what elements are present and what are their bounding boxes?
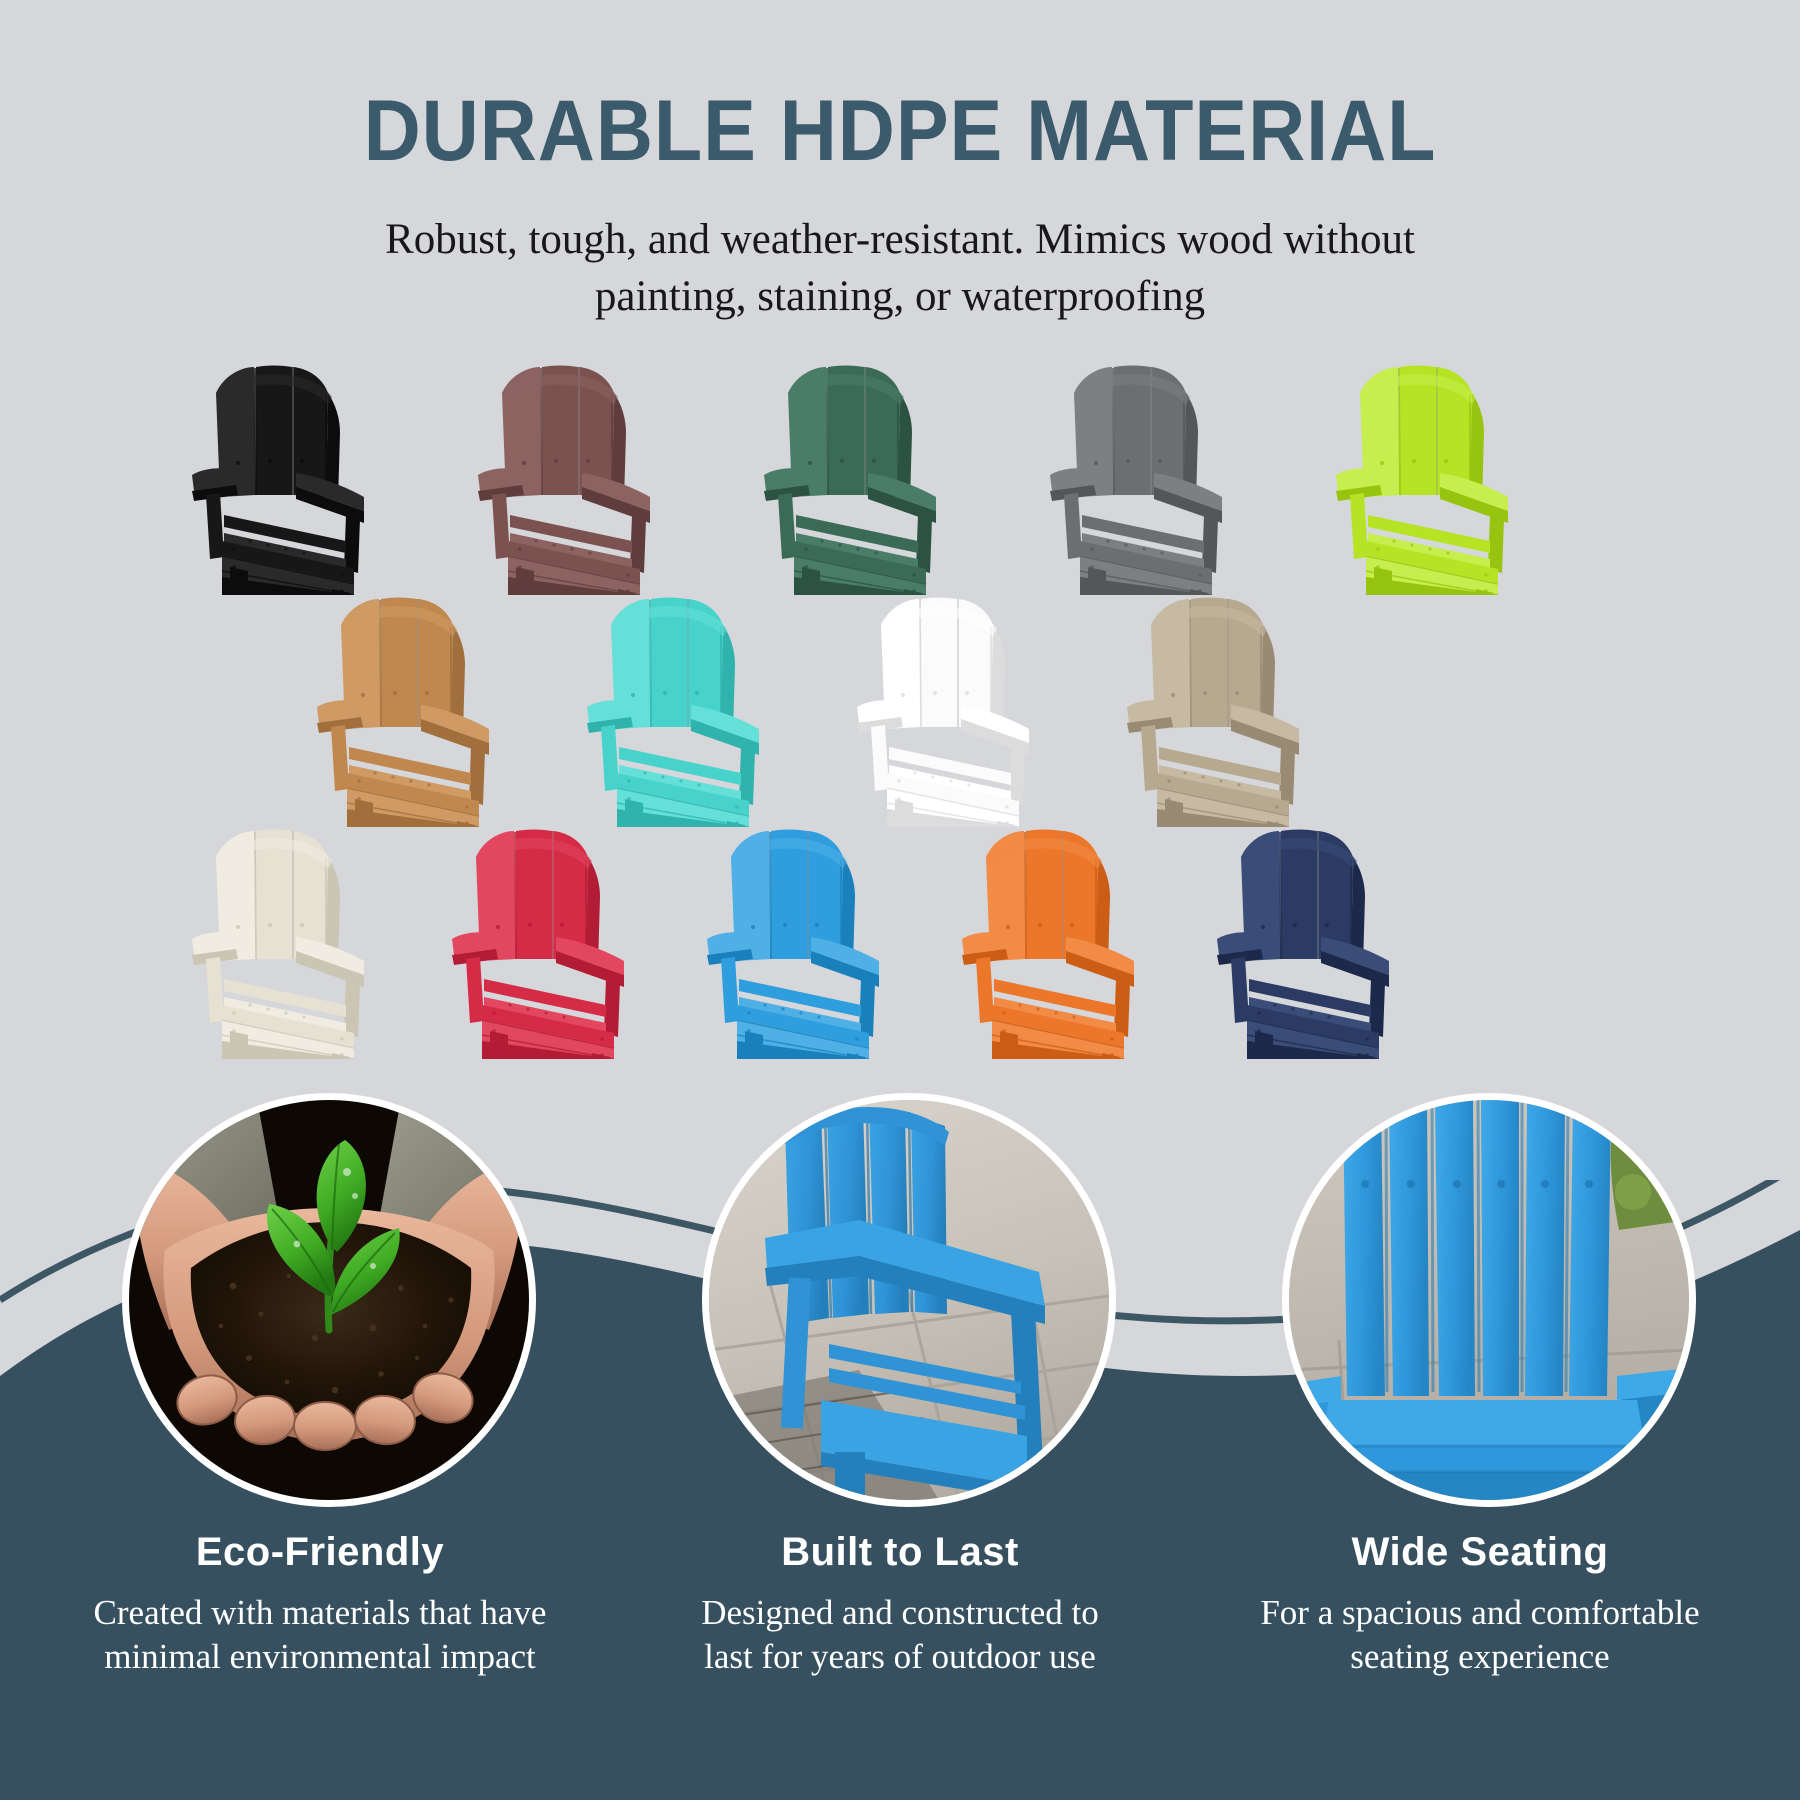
feature-built-to-last: Built to LastDesigned and constructed to… (620, 1530, 1180, 1679)
feature-body-line-2: minimal environmental impact (40, 1635, 600, 1679)
feature-body: Created with materials that haveminimal … (40, 1591, 600, 1679)
photo-circle-wide-seating (1282, 1093, 1696, 1507)
feature-heading: Eco-Friendly (40, 1530, 600, 1575)
feature-body: Designed and constructed tolast for year… (620, 1591, 1180, 1679)
photo-circle-built-to-last (702, 1093, 1116, 1507)
infographic-canvas: DURABLE HDPE MATERIAL Robust, tough, and… (0, 0, 1800, 1800)
feature-wide-seating: Wide SeatingFor a spacious and comfortab… (1200, 1530, 1760, 1679)
photo-circle-eco-friendly (122, 1093, 536, 1507)
feature-body: For a spacious and comfortableseating ex… (1200, 1591, 1760, 1679)
blue-chair-patio-icon (709, 1100, 1109, 1500)
feature-heading: Built to Last (620, 1530, 1180, 1575)
feature-body-line-1: Created with materials that have (40, 1591, 600, 1635)
feature-body-line-1: For a spacious and comfortable (1200, 1591, 1760, 1635)
blue-chair-wide-seat-icon (1289, 1100, 1689, 1500)
feature-body-line-2: last for years of outdoor use (620, 1635, 1180, 1679)
feature-heading: Wide Seating (1200, 1530, 1760, 1575)
feature-body-line-2: seating experience (1200, 1635, 1760, 1679)
feature-body-line-1: Designed and constructed to (620, 1591, 1180, 1635)
hands-seedling-icon (129, 1100, 529, 1500)
feature-eco-friendly: Eco-FriendlyCreated with materials that … (40, 1530, 600, 1679)
